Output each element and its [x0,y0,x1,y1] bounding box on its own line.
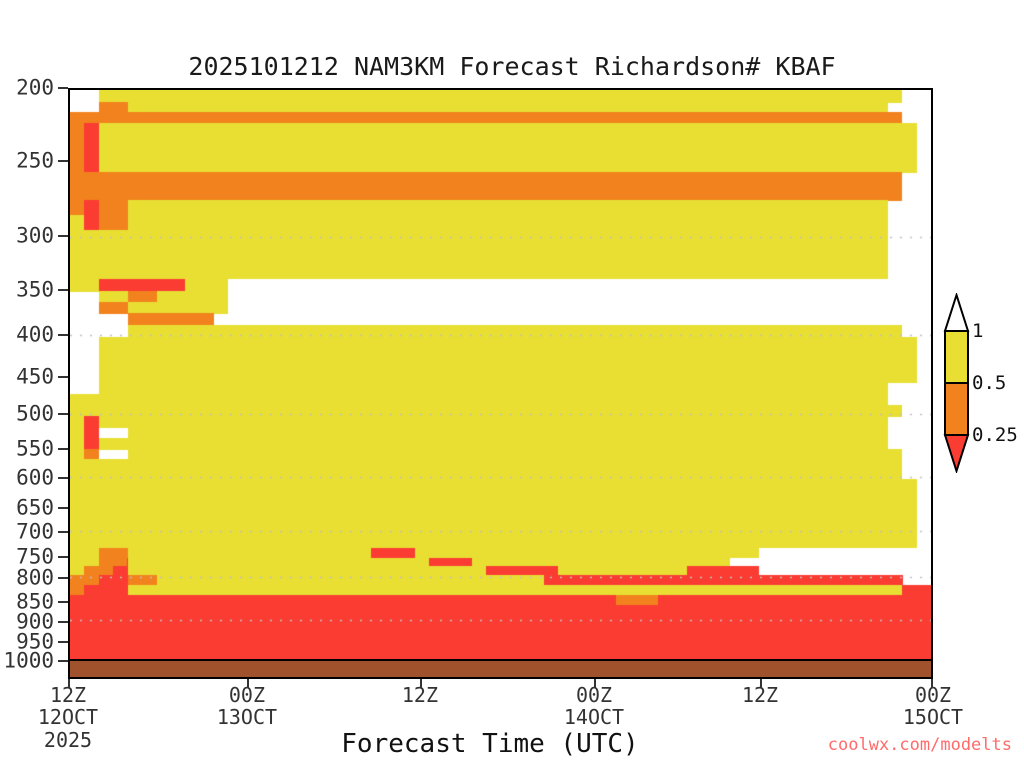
colorbar-tick-025: 0.25 [972,424,1018,446]
x-axis-tick-label: 12Z [680,684,840,706]
y-axis-tick-mark [58,376,68,378]
y-axis-tick-mark [58,413,68,415]
x-axis-tick-time: 00Z [167,684,327,706]
colorbar-band-orange [945,383,968,435]
y-axis-tick-mark [58,621,68,623]
y-axis-tick-label: 300 [16,226,54,247]
y-axis-tick-label: 450 [16,367,54,388]
y-axis-tick-label: 350 [16,279,54,300]
colorbar-tick-1: 1 [972,320,983,342]
y-axis-tick-label: 600 [16,467,54,488]
colorbar-band-over-1 [945,295,968,331]
y-axis-tick-mark [58,448,68,450]
y-axis-tick-mark [58,641,68,643]
x-axis-tick-label: 00Z14OCT [514,684,674,729]
y-axis-tick-mark [58,87,68,89]
y-axis-tick-mark [58,235,68,237]
y-axis-tick-mark [58,160,68,162]
x-axis-tick-year: 2025 [0,729,148,751]
x-axis-tick-date: 15OCT [853,706,1013,728]
y-axis-labels: 2002503003504004505005506006507007508008… [0,0,54,768]
y-axis-tick-mark [58,660,68,662]
x-axis-tick-time: 12Z [680,684,840,706]
colorbar-band-red [945,435,968,471]
x-axis-title: Forecast Time (UTC) [210,729,770,759]
y-axis-tick-mark [58,577,68,579]
colorbar-band-yellow [945,331,968,383]
x-axis-tick-label: 12Z12OCT2025 [0,684,148,751]
y-axis-tick-label: 750 [16,547,54,568]
y-axis-tick-label: 700 [16,521,54,542]
y-axis-tick-mark [58,334,68,336]
y-axis-tick-label: 250 [16,151,54,172]
x-axis-tick-date: 12OCT [0,706,148,728]
x-axis-tick-label: 00Z15OCT [853,684,1013,729]
credit-watermark: coolwx.com/modelts [828,735,1012,755]
y-axis-tick-mark [58,477,68,479]
colorbar-legend: 1 0.5 0.25 [943,293,1024,473]
y-axis-tick-label: 400 [16,325,54,346]
heatmap-plot-area [68,88,933,661]
y-axis-tick-label: 1000 [3,651,54,672]
y-axis-tick-label: 800 [16,567,54,588]
page-title: 2025101212 NAM3KM Forecast Richardson# K… [0,52,1024,81]
x-axis-tick-time: 12Z [340,684,500,706]
colorbar-tick-05: 0.5 [972,372,1006,394]
x-axis-tick-time: 00Z [853,684,1013,706]
x-axis-tick-date: 13OCT [167,706,327,728]
y-axis-tick-label: 650 [16,497,54,518]
x-axis-tick-time: 00Z [514,684,674,706]
terrain-surface-bar [68,661,933,679]
y-axis-tick-label: 500 [16,403,54,424]
x-axis-tick-label: 00Z13OCT [167,684,327,729]
y-axis-tick-mark [58,531,68,533]
y-axis-tick-label: 200 [16,78,54,99]
chart-root: 2025101212 NAM3KM Forecast Richardson# K… [0,0,1024,768]
y-axis-tick-mark [58,556,68,558]
y-axis-tick-label: 550 [16,438,54,459]
heatmap-canvas [70,90,931,659]
x-axis-tick-label: 12Z [340,684,500,706]
x-axis-tick-time: 12Z [0,684,148,706]
y-axis-tick-mark [58,601,68,603]
y-axis-tick-mark [58,289,68,291]
y-axis-tick-mark [58,507,68,509]
x-axis-tick-date: 14OCT [514,706,674,728]
